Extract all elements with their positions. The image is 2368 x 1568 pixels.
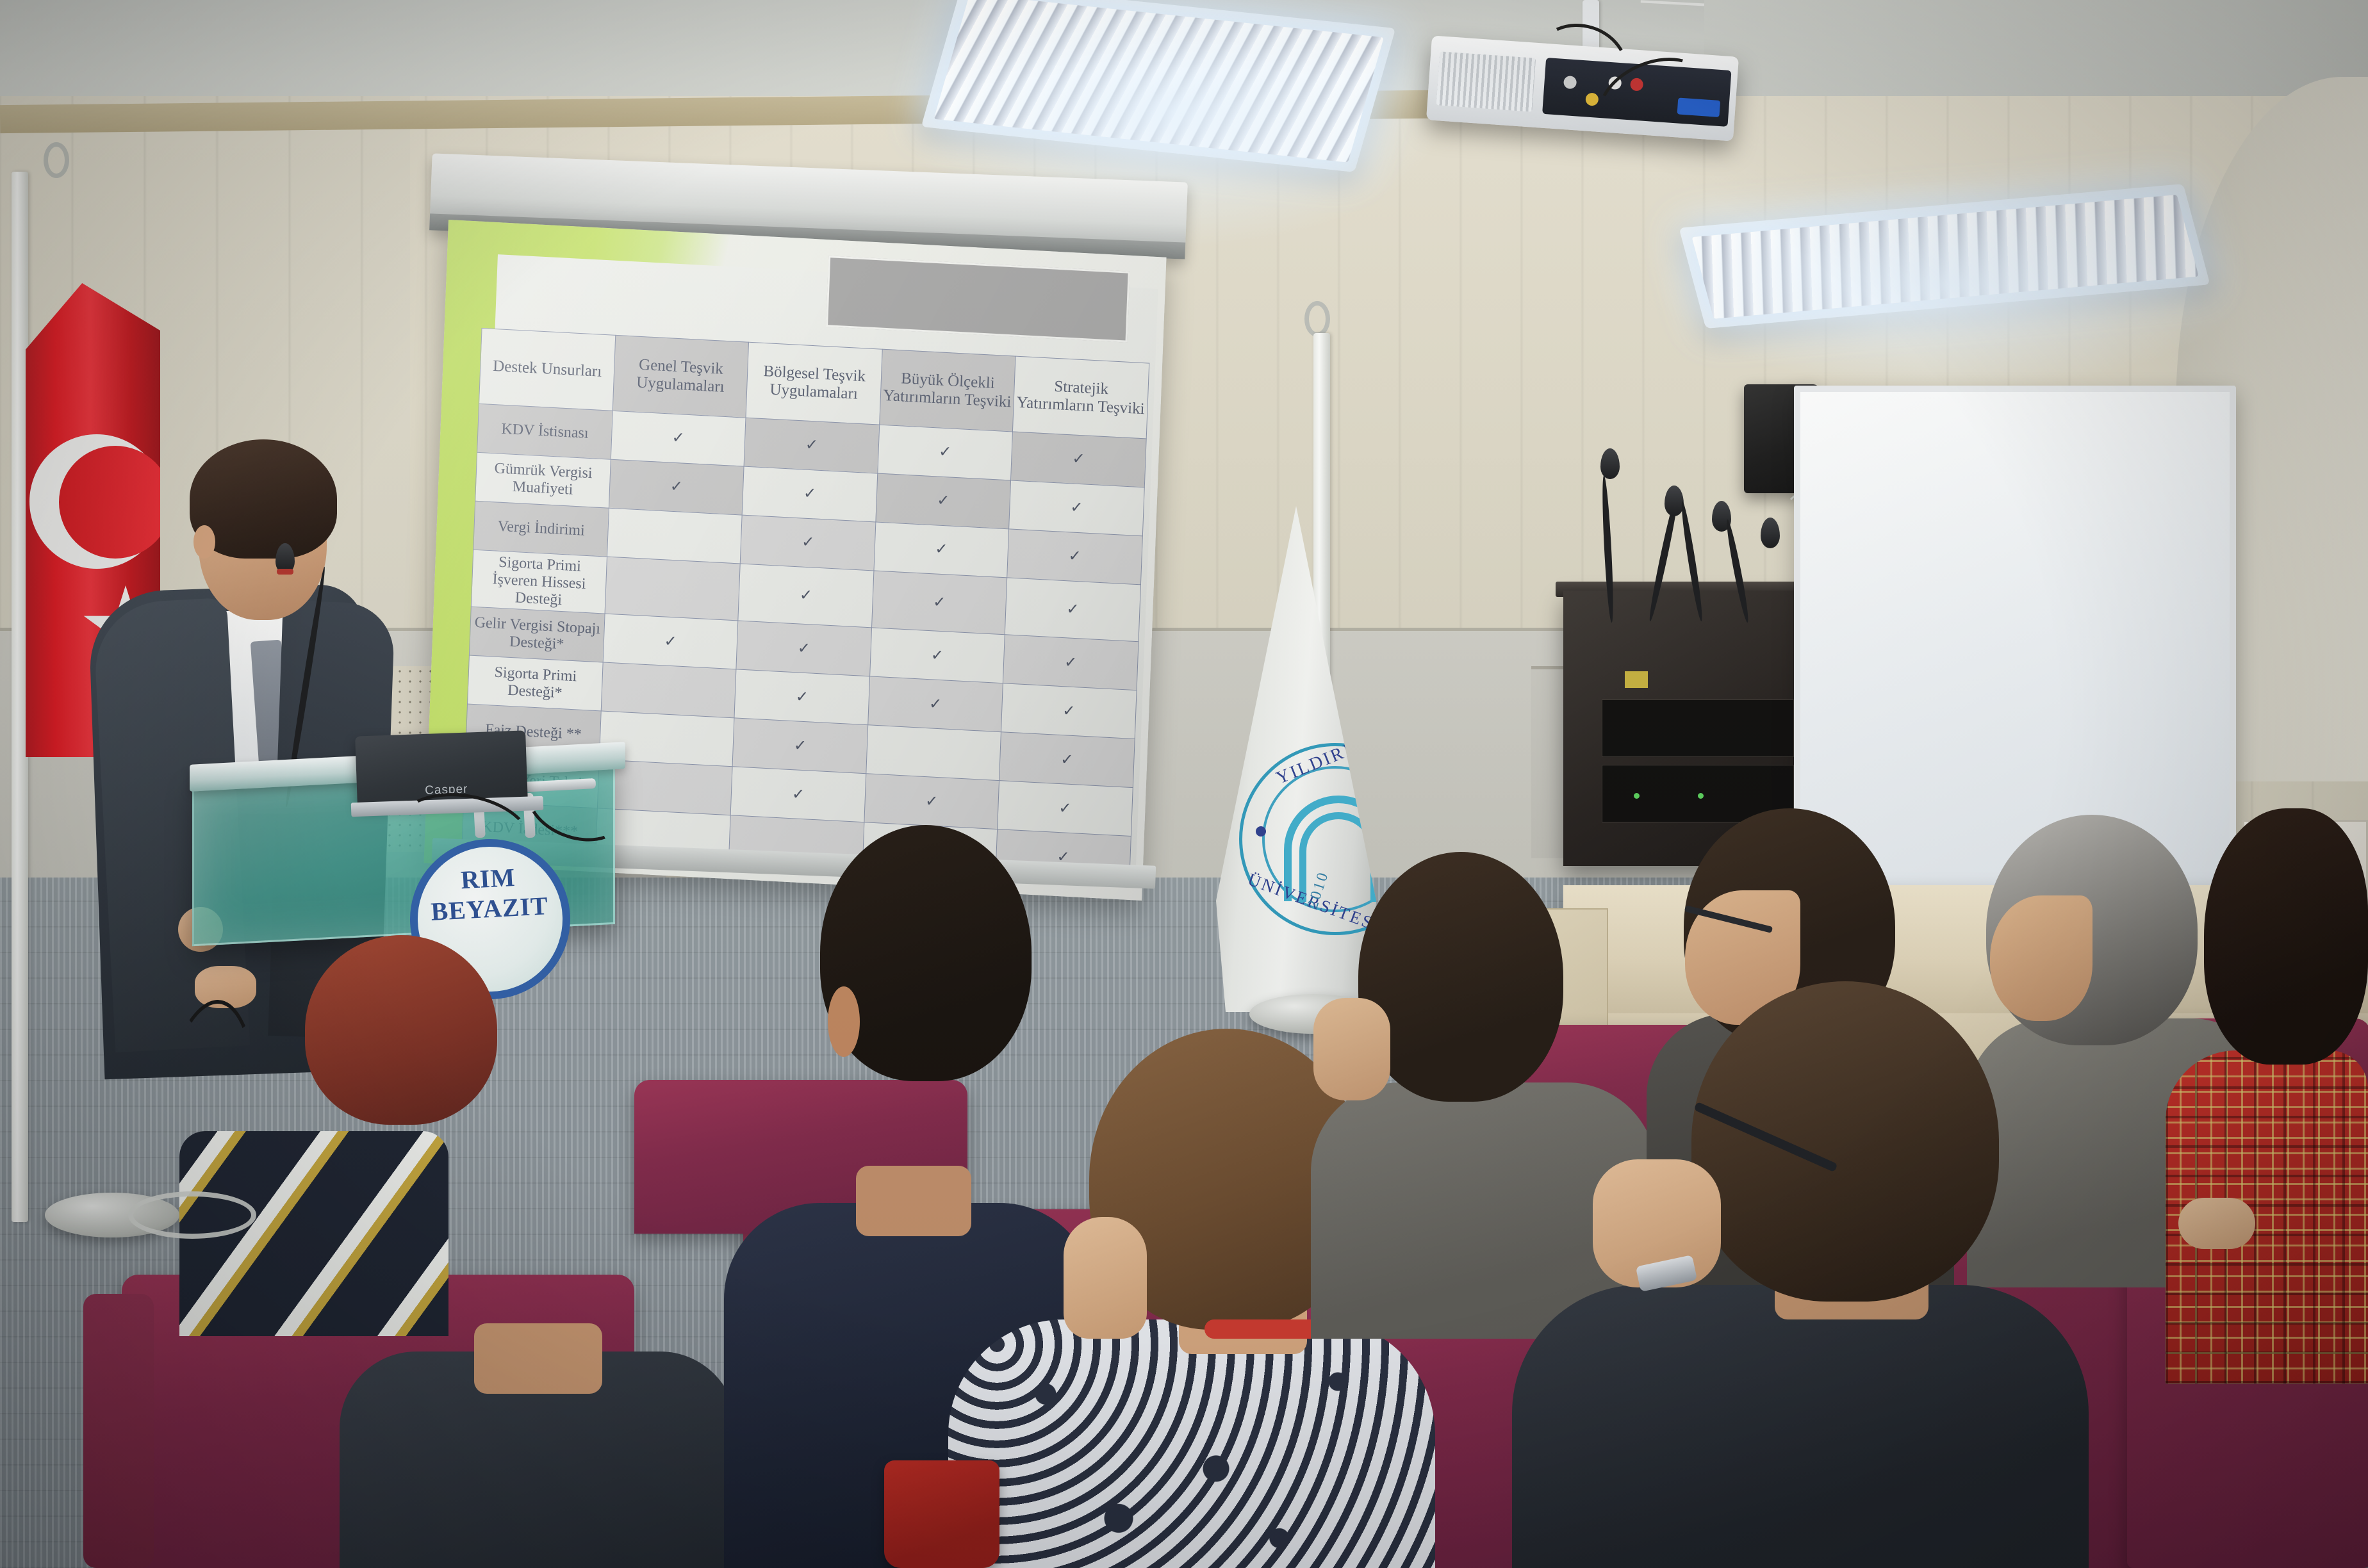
audience-head xyxy=(2204,808,2368,1065)
row-cell: ✓ xyxy=(867,676,1003,732)
row-label: Gelir Vergisi Stopajı Desteği* xyxy=(470,607,605,663)
row-cell: ✓ xyxy=(1007,529,1142,585)
row-cell: ✓ xyxy=(869,628,1005,683)
av-status-led xyxy=(1634,793,1640,799)
audience-hand xyxy=(1313,998,1390,1100)
audience-head xyxy=(1691,981,1999,1302)
row-label: Sigorta Primi Desteği* xyxy=(468,656,603,712)
audience-body xyxy=(948,1319,1435,1568)
table-header-cell: Destek Unsurları xyxy=(479,328,616,411)
row-cell: ✓ xyxy=(609,459,744,515)
presenter-ear xyxy=(193,525,215,559)
audience-hand xyxy=(2178,1198,2255,1249)
row-cell: ✓ xyxy=(744,418,879,473)
handbag xyxy=(884,1460,999,1568)
row-cell xyxy=(605,557,741,621)
row-cell: ✓ xyxy=(738,564,874,628)
podium-microphone-ring xyxy=(277,569,293,575)
projector-vents xyxy=(1436,51,1536,111)
audience-body xyxy=(1512,1285,2089,1568)
audience-ear xyxy=(828,986,860,1057)
row-cell: ✓ xyxy=(742,466,877,522)
seat-armrest[interactable] xyxy=(83,1294,154,1568)
row-cell: ✓ xyxy=(730,767,866,822)
flag-finial xyxy=(44,142,69,178)
row-cell: ✓ xyxy=(998,781,1133,837)
seal-dot xyxy=(1256,826,1266,837)
row-cell: ✓ xyxy=(1009,480,1144,536)
row-label: Vergi İndirimi xyxy=(473,501,609,557)
row-cell xyxy=(601,662,736,718)
row-cell: ✓ xyxy=(878,425,1013,480)
row-cell: ✓ xyxy=(999,732,1135,788)
row-cell: ✓ xyxy=(736,621,871,676)
row-cell: ✓ xyxy=(741,515,876,571)
row-cell: ✓ xyxy=(734,669,869,725)
av-status-led xyxy=(1698,793,1704,799)
conference-room-photo: Destek Unsurları Genel Teşvik Uygulamala… xyxy=(0,0,2368,1568)
av-label-sticker xyxy=(1625,671,1648,688)
row-cell: ✓ xyxy=(1001,683,1137,739)
row-cell: ✓ xyxy=(1011,432,1146,487)
row-cell: ✓ xyxy=(611,411,746,466)
row-cell xyxy=(866,725,1001,781)
table-header-cell: Büyük Ölçekli Yatırımların Teşviki xyxy=(880,349,1016,432)
audience-neck xyxy=(856,1166,971,1236)
row-cell: ✓ xyxy=(1003,635,1139,690)
row-cell: ✓ xyxy=(603,614,738,669)
row-cell xyxy=(607,508,742,564)
row-cell: ✓ xyxy=(732,718,867,774)
audience-head xyxy=(402,1098,665,1367)
row-cell: ✓ xyxy=(871,571,1007,635)
audience-head xyxy=(305,935,497,1125)
av-rack-unit xyxy=(1602,699,1794,757)
audience-face xyxy=(1990,895,2093,1021)
row-cell: ✓ xyxy=(1005,578,1141,642)
row-label: Gümrük Vergisi Muafiyeti xyxy=(475,452,611,508)
row-label: Sigorta Primi İşveren Hissesi Desteği xyxy=(472,550,607,614)
row-cell: ✓ xyxy=(874,522,1009,578)
table-header-cell: Stratejik Yatırımların Teşviki xyxy=(1013,356,1149,439)
audience-hand xyxy=(1064,1217,1147,1339)
table-header-cell: Bölgesel Teşvik Uygulamaları xyxy=(746,342,882,425)
flag-finial xyxy=(1304,301,1330,337)
row-label: KDV İstisnası xyxy=(477,404,613,459)
row-cell: ✓ xyxy=(864,774,999,829)
table-header-cell: Genel Teşvik Uygulamaları xyxy=(613,335,749,418)
row-cell: ✓ xyxy=(876,473,1011,529)
